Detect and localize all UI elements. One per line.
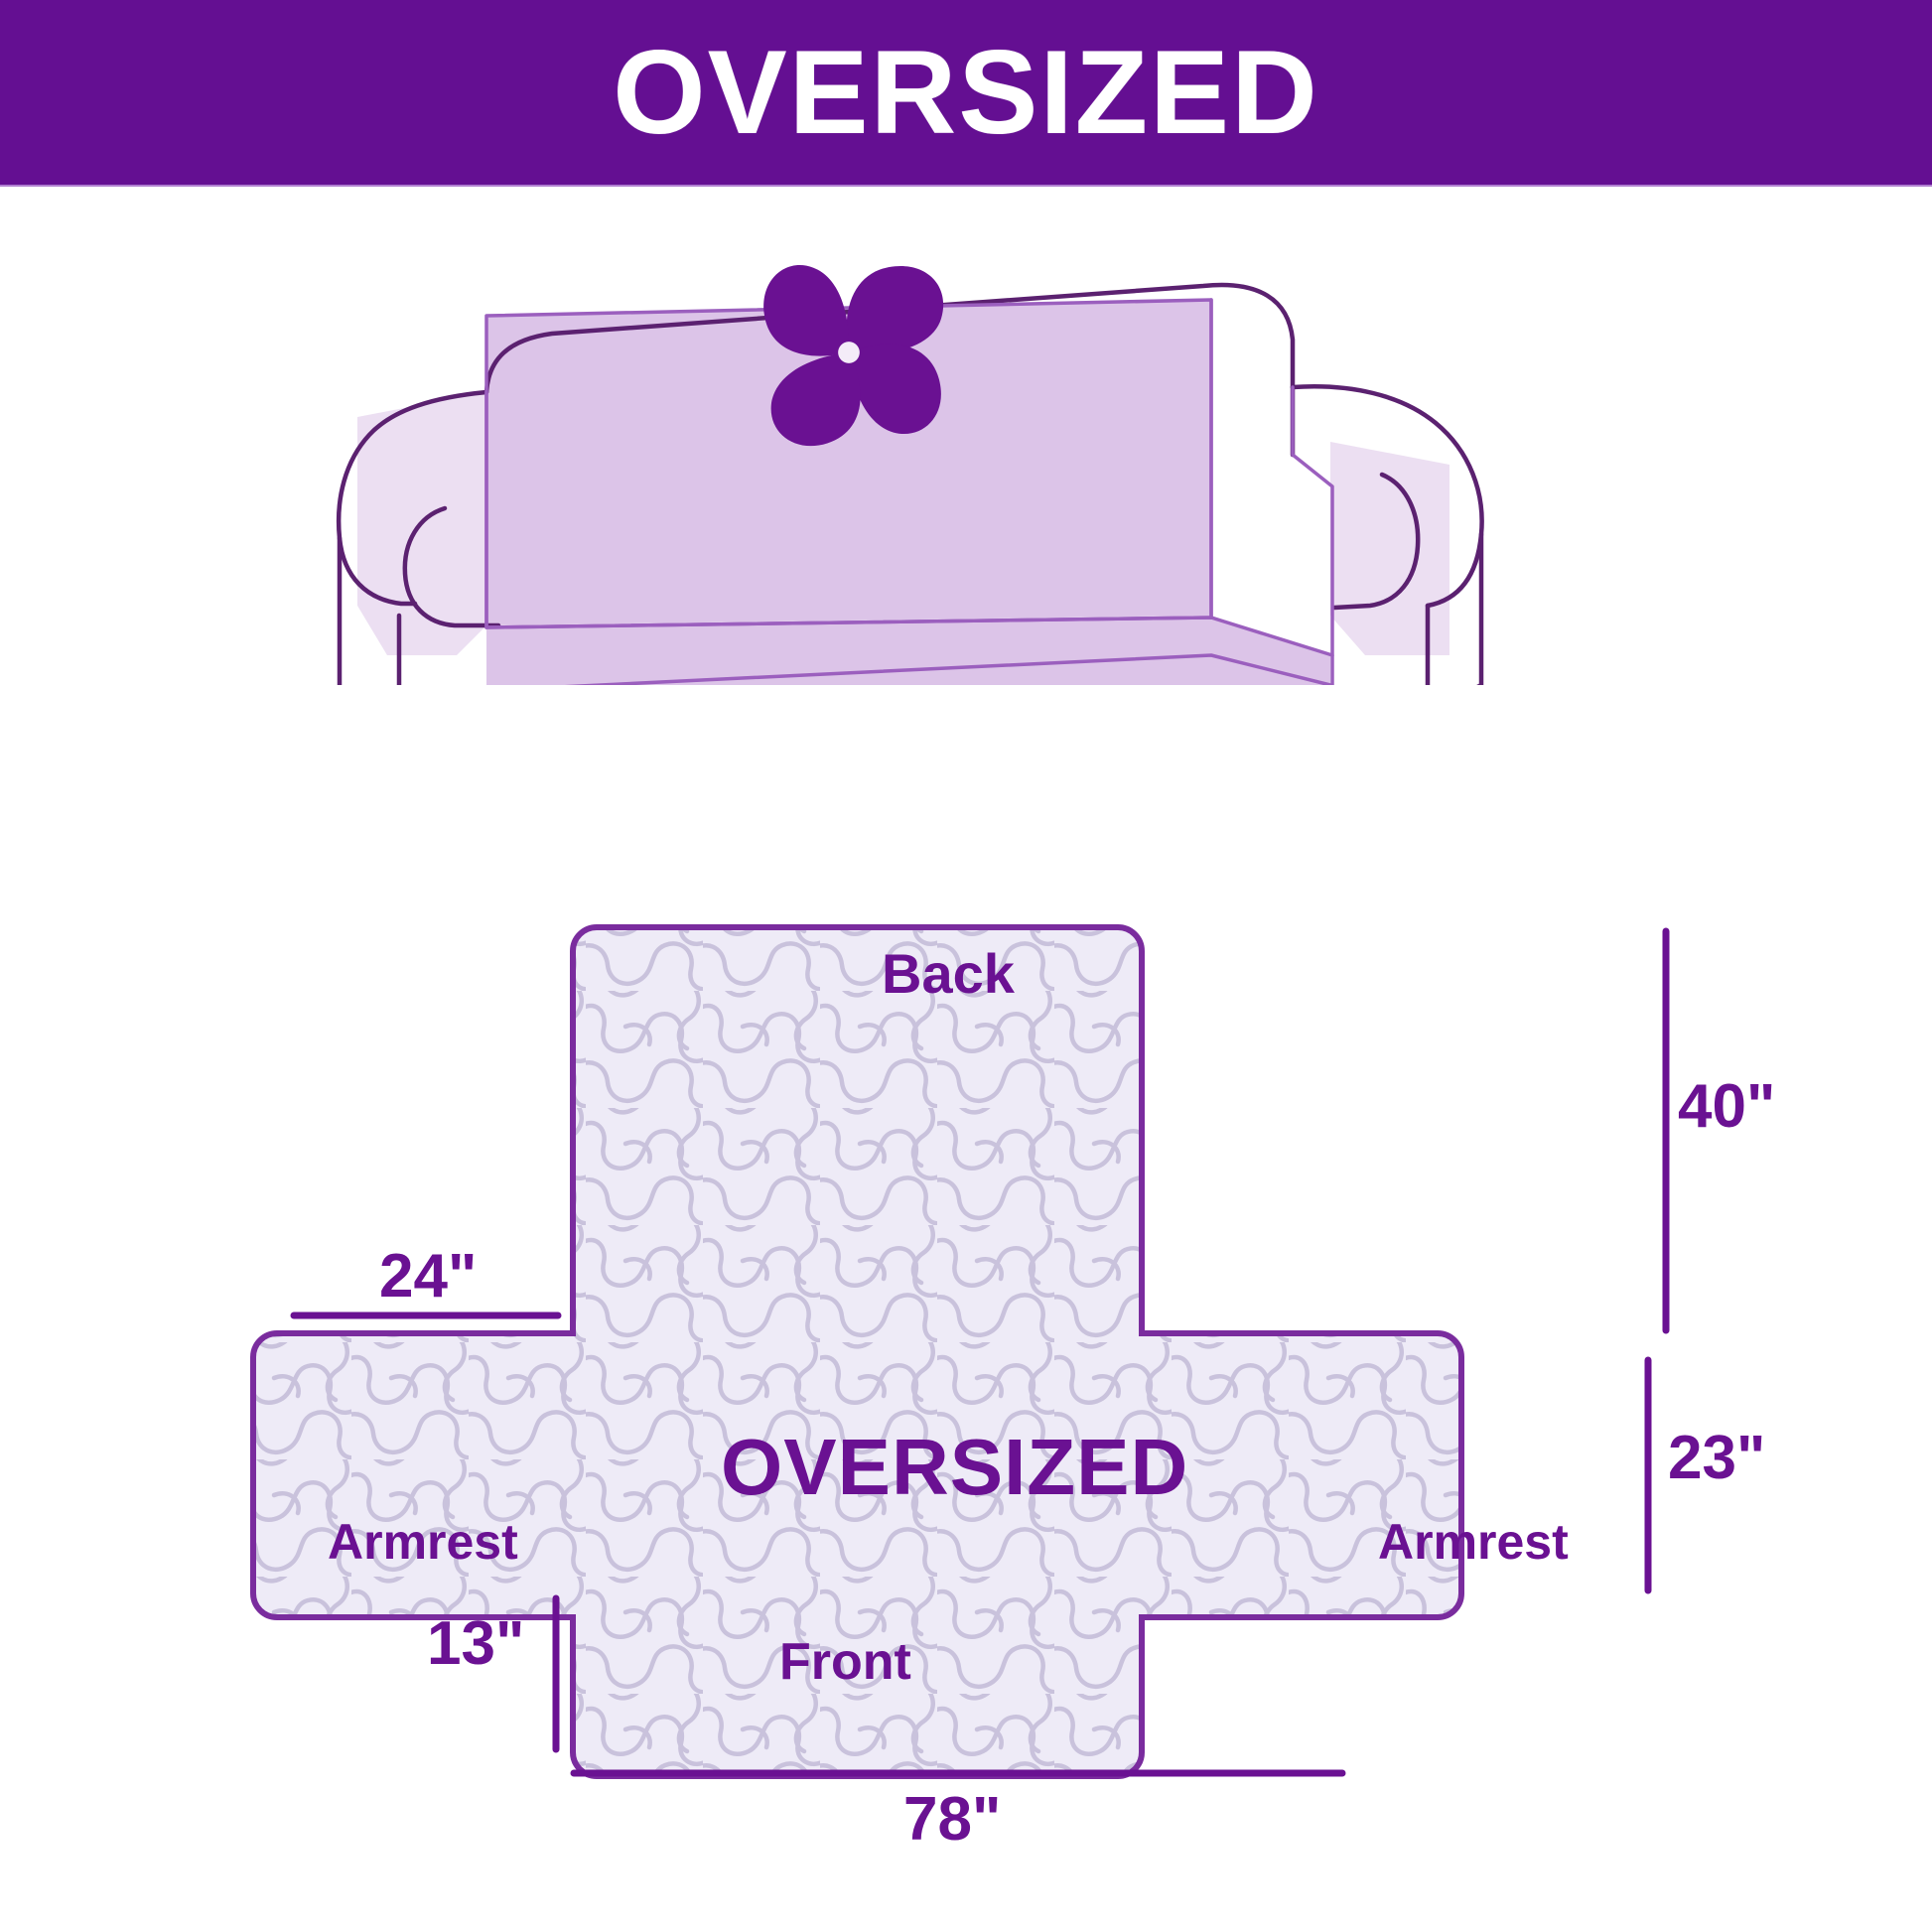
header-banner: OVERSIZED [0,0,1932,185]
label-front: Front [779,1636,911,1688]
dimension-label-back-height: 40" [1678,1076,1775,1138]
dimension-label-front-offset: 13" [427,1613,524,1675]
cover-diagram-svg [0,874,1932,1932]
product-size-infographic: OVERSIZED .ol{fill:none;stroke:#5B2170;s… [0,0,1932,1932]
label-back: Back [882,946,1015,1002]
cover-right-arm-panel [1293,387,1332,655]
label-center-oversized: OVERSIZED [721,1428,1188,1507]
dimension-label-back-offset: 24" [379,1246,477,1308]
banner-title: OVERSIZED [613,33,1318,152]
sofa-drawing-svg: .ol{fill:none;stroke:#5B2170;stroke-widt… [328,189,1608,685]
label-armrest-right: Armrest [1378,1517,1569,1567]
label-armrest-left: Armrest [328,1517,518,1567]
sofa-right-arm-fill [1330,442,1449,655]
dimension-label-total-width: 78" [903,1789,1001,1851]
dimension-label-armrest-height: 23" [1668,1428,1765,1489]
sofa-illustration: .ol{fill:none;stroke:#5B2170;stroke-widt… [328,189,1608,685]
cover-shape-diagram [0,874,1932,1932]
